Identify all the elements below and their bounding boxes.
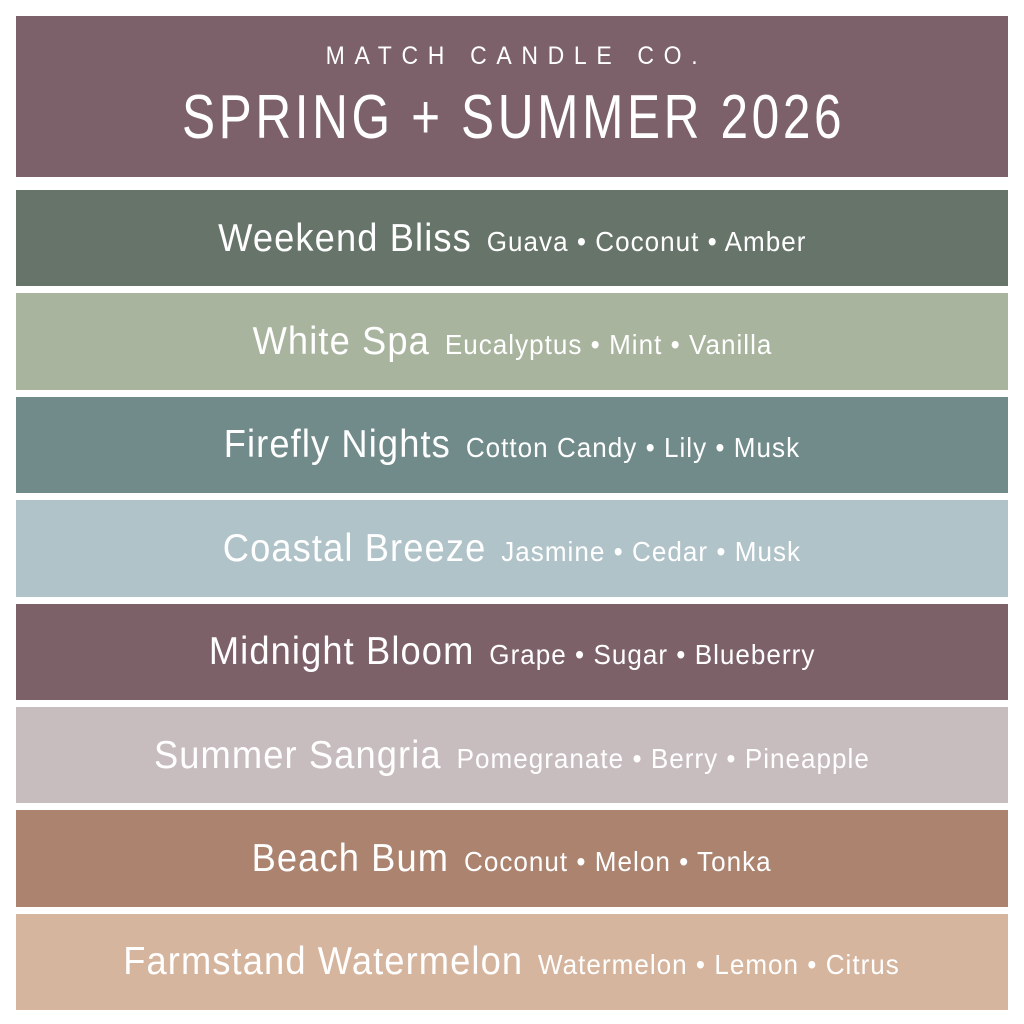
scent-name: Midnight Bloom bbox=[209, 632, 475, 671]
scent-row-content: White SpaEucalyptus • Mint • Vanilla bbox=[252, 322, 772, 361]
scent-name: Coastal Breeze bbox=[223, 529, 487, 568]
scent-notes: Coconut • Melon • Tonka bbox=[464, 848, 772, 876]
scent-row-content: Coastal BreezeJasmine • Cedar • Musk bbox=[223, 529, 801, 568]
scent-row-content: Firefly NightsCotton Candy • Lily • Musk bbox=[224, 425, 800, 464]
scent-notes: Grape • Sugar • Blueberry bbox=[489, 641, 815, 669]
scent-name: Firefly Nights bbox=[224, 425, 451, 464]
scent-row[interactable]: Beach BumCoconut • Melon • Tonka bbox=[16, 810, 1008, 906]
scent-name: Summer Sangria bbox=[154, 736, 442, 775]
scent-row[interactable]: Farmstand WatermelonWatermelon • Lemon •… bbox=[16, 914, 1008, 1010]
scent-notes: Eucalyptus • Mint • Vanilla bbox=[444, 331, 772, 359]
scent-row[interactable]: White SpaEucalyptus • Mint • Vanilla bbox=[16, 293, 1008, 389]
scent-row-content: Midnight BloomGrape • Sugar • Blueberry bbox=[209, 632, 816, 671]
scent-name: Beach Bum bbox=[252, 839, 450, 878]
scent-row-list: Weekend BlissGuava • Coconut • AmberWhit… bbox=[16, 190, 1008, 1010]
scent-notes: Guava • Coconut • Amber bbox=[486, 228, 806, 256]
scent-row[interactable]: Firefly NightsCotton Candy • Lily • Musk bbox=[16, 397, 1008, 493]
scent-name: White Spa bbox=[252, 322, 429, 361]
scent-notes: Pomegranate • Berry • Pineapple bbox=[457, 745, 870, 773]
header-band: MATCH CANDLE CO. SPRING + SUMMER 2026 bbox=[16, 16, 1008, 177]
scent-row-content: Farmstand WatermelonWatermelon • Lemon •… bbox=[124, 942, 901, 981]
scent-row-content: Summer SangriaPomegranate • Berry • Pine… bbox=[154, 736, 870, 775]
brand-name: MATCH CANDLE CO. bbox=[316, 44, 707, 69]
candle-scent-list-sheet: MATCH CANDLE CO. SPRING + SUMMER 2026 We… bbox=[0, 0, 1024, 1024]
scent-row-content: Beach BumCoconut • Melon • Tonka bbox=[252, 839, 772, 878]
scent-row[interactable]: Weekend BlissGuava • Coconut • Amber bbox=[16, 190, 1008, 286]
scent-row[interactable]: Summer SangriaPomegranate • Berry • Pine… bbox=[16, 707, 1008, 803]
scent-name: Weekend Bliss bbox=[218, 219, 472, 258]
season-title: SPRING + SUMMER 2026 bbox=[179, 87, 846, 149]
scent-row-content: Weekend BlissGuava • Coconut • Amber bbox=[218, 219, 806, 258]
scent-notes: Jasmine • Cedar • Musk bbox=[501, 538, 801, 566]
scent-row[interactable]: Midnight BloomGrape • Sugar • Blueberry bbox=[16, 604, 1008, 700]
scent-notes: Watermelon • Lemon • Citrus bbox=[538, 951, 900, 979]
scent-row[interactable]: Coastal BreezeJasmine • Cedar • Musk bbox=[16, 500, 1008, 596]
scent-notes: Cotton Candy • Lily • Musk bbox=[466, 434, 800, 462]
scent-name: Farmstand Watermelon bbox=[124, 942, 524, 981]
